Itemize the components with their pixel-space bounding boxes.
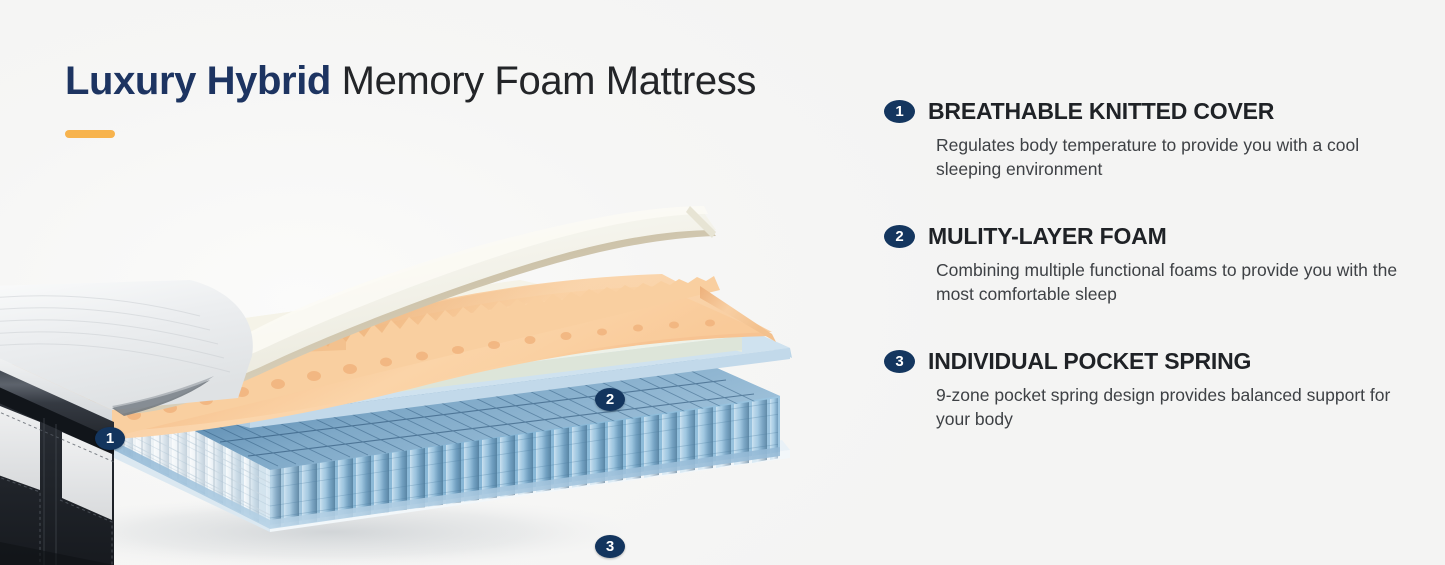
feature-item-breathable-knitted-cover: 1 BREATHABLE KNITTED COVER Regulates bod… bbox=[884, 98, 1424, 182]
feature-heading: 2 MULITY-LAYER FOAM bbox=[884, 223, 1424, 250]
title-highlight: Luxury Hybrid bbox=[65, 59, 331, 103]
callout-badge-2: 2 bbox=[595, 388, 625, 411]
feature-list: 1 BREATHABLE KNITTED COVER Regulates bod… bbox=[884, 98, 1424, 473]
feature-heading: 1 BREATHABLE KNITTED COVER bbox=[884, 98, 1424, 125]
title-accent-bar bbox=[65, 130, 115, 138]
feature-number-badge: 2 bbox=[884, 225, 915, 248]
callout-badge-3: 3 bbox=[595, 535, 625, 558]
feature-title: INDIVIDUAL POCKET SPRING bbox=[928, 348, 1251, 375]
feature-title: MULITY-LAYER FOAM bbox=[928, 223, 1167, 250]
feature-heading: 3 INDIVIDUAL POCKET SPRING bbox=[884, 348, 1424, 375]
feature-number-badge: 3 bbox=[884, 350, 915, 373]
title-line: Luxury Hybrid Memory Foam Mattress bbox=[65, 58, 825, 104]
mattress-cutaway-illustration: 1 2 3 bbox=[0, 140, 820, 565]
feature-description: 9-zone pocket spring design provides bal… bbox=[936, 384, 1416, 432]
feature-description: Combining multiple functional foams to p… bbox=[936, 259, 1416, 307]
page-title: Luxury Hybrid Memory Foam Mattress bbox=[65, 58, 825, 104]
feature-title: BREATHABLE KNITTED COVER bbox=[928, 98, 1274, 125]
feature-item-individual-pocket-spring: 3 INDIVIDUAL POCKET SPRING 9-zone pocket… bbox=[884, 348, 1424, 432]
feature-description: Regulates body temperature to provide yo… bbox=[936, 134, 1416, 182]
callout-badge-1: 1 bbox=[95, 427, 125, 450]
infographic-canvas: Luxury Hybrid Memory Foam Mattress bbox=[0, 0, 1445, 565]
title-rest: Memory Foam Mattress bbox=[331, 59, 756, 103]
feature-item-mulity-layer-foam: 2 MULITY-LAYER FOAM Combining multiple f… bbox=[884, 223, 1424, 307]
feature-number-badge: 1 bbox=[884, 100, 915, 123]
